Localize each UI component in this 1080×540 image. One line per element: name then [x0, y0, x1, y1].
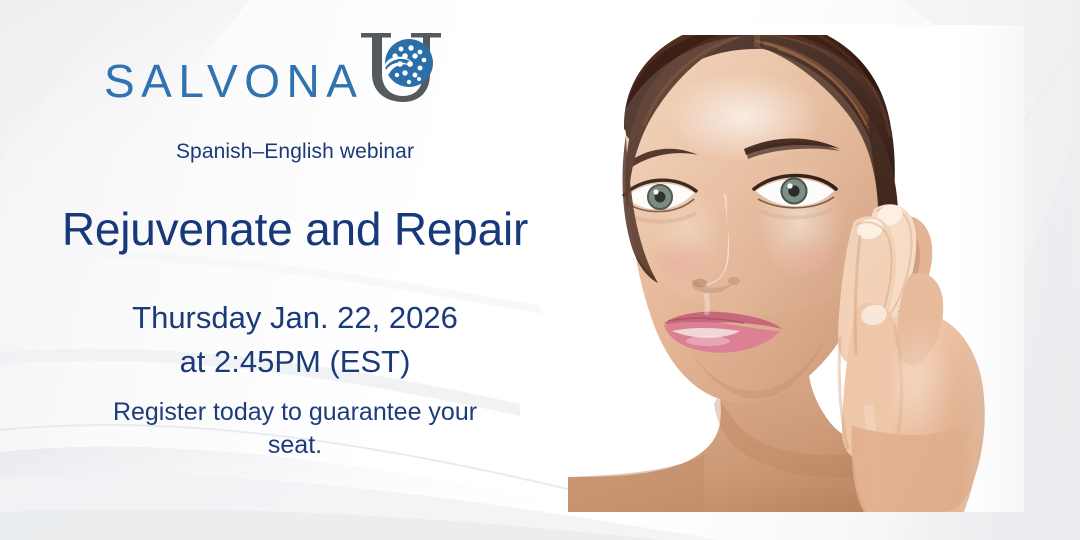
event-datetime: Thursday Jan. 22, 2026 at 2:45PM (EST)	[0, 296, 590, 384]
event-date: Thursday Jan. 22, 2026	[132, 300, 458, 335]
page-title: Rejuvenate and Repair	[0, 203, 590, 256]
webinar-promo-banner: SALVONA	[0, 0, 1080, 540]
sphere-molecule-icon	[383, 39, 433, 87]
logo-wordmark: SALVONA	[104, 58, 363, 104]
registration-cta-text: Register today to guarantee your seat.	[85, 396, 505, 462]
event-time: at 2:45PM (EST)	[0, 340, 590, 384]
content-column: SALVONA	[0, 0, 600, 540]
portrait-photo	[568, 25, 1024, 512]
logo-u-mark	[359, 30, 455, 108]
salvona-u-logo[interactable]: SALVONA	[104, 36, 455, 108]
webinar-kicker: Spanish–English webinar	[0, 140, 590, 164]
